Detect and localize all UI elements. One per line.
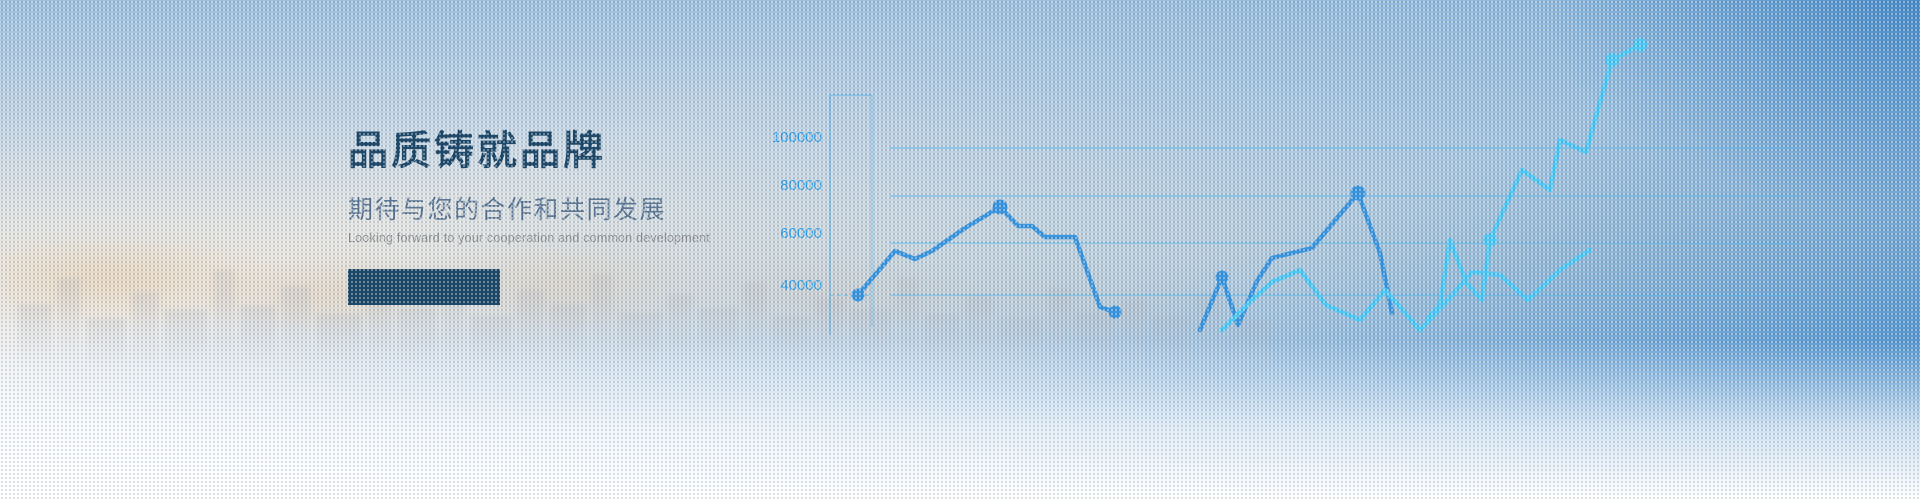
background-halftone-highlight xyxy=(0,0,1920,500)
promo-banner: 100000 80000 60000 40000 xyxy=(0,0,1920,500)
